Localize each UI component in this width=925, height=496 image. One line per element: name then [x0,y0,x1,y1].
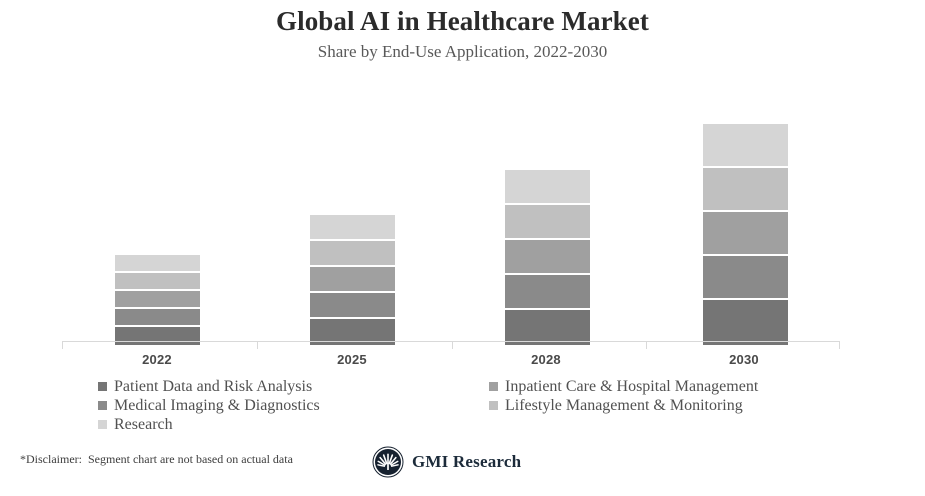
chart-legend: Patient Data and Risk Analysis Medical I… [0,377,925,437]
bar-segment-inpatient-care[interactable] [505,240,590,275]
legend-swatch-icon [98,401,107,410]
bar-stack [115,255,200,345]
legend-item-label: Medical Imaging & Diagnostics [114,396,320,415]
bar-segment-medical-imaging[interactable] [115,309,200,327]
bar-segment-research[interactable] [505,170,590,205]
x-axis-label-2025: 2025 [292,352,412,367]
bar-segment-patient-data[interactable] [505,310,590,345]
bar-segment-lifestyle-management[interactable] [115,273,200,291]
x-axis-label-2028: 2028 [486,352,606,367]
bar-segment-lifestyle-management[interactable] [310,241,395,267]
plot-area [0,80,925,345]
title-block: Global AI in Healthcare Market Share by … [0,4,925,64]
bar-stack [310,215,395,345]
legend-item-lifestyle-management[interactable]: Lifestyle Management & Monitoring [489,396,758,415]
bar-segment-research[interactable] [115,255,200,273]
chart-page: Global AI in Healthcare Market Share by … [0,0,925,496]
x-axis-tick [452,342,453,349]
bar-segment-patient-data[interactable] [703,300,788,345]
bar-segment-lifestyle-management[interactable] [505,205,590,240]
x-axis-tick [257,342,258,349]
page-title: Global AI in Healthcare Market [0,4,925,38]
legend-item-label: Research [114,415,173,434]
bar-stack [505,170,590,345]
legend-item-medical-imaging[interactable]: Medical Imaging & Diagnostics [98,396,320,415]
gmi-research-logo-icon [372,446,404,478]
legend-item-inpatient-care[interactable]: Inpatient Care & Hospital Management [489,377,758,396]
brand-name-label: GMI Research [412,452,521,472]
legend-swatch-icon [489,401,498,410]
legend-item-label: Patient Data and Risk Analysis [114,377,312,396]
bar-segment-medical-imaging[interactable] [310,293,395,319]
bar-stack [703,124,788,345]
bar-segment-research[interactable] [310,215,395,241]
x-axis-tick [62,342,63,349]
legend-swatch-icon [489,382,498,391]
disclaimer-text: *Disclaimer: Segment chart are not based… [20,452,293,467]
bar-segment-patient-data[interactable] [115,327,200,345]
legend-column-left: Patient Data and Risk Analysis Medical I… [98,377,320,434]
legend-swatch-icon [98,420,107,429]
legend-item-label: Lifestyle Management & Monitoring [505,396,743,415]
bar-segment-inpatient-care[interactable] [115,291,200,309]
x-axis-label-2030: 2030 [684,352,804,367]
bar-segment-medical-imaging[interactable] [505,275,590,310]
bar-segment-lifestyle-management[interactable] [703,168,788,212]
legend-swatch-icon [98,382,107,391]
bar-segment-inpatient-care[interactable] [310,267,395,293]
legend-column-right: Inpatient Care & Hospital Management Lif… [489,377,758,415]
chart-subtitle: Share by End-Use Application, 2022-2030 [0,40,925,64]
legend-item-research[interactable]: Research [98,415,320,434]
legend-item-label: Inpatient Care & Hospital Management [505,377,758,396]
x-axis-tick [646,342,647,349]
bar-segment-research[interactable] [703,124,788,168]
brand-logo: GMI Research [372,446,521,478]
legend-item-patient-data[interactable]: Patient Data and Risk Analysis [98,377,320,396]
x-axis-label-2022: 2022 [97,352,217,367]
bar-segment-inpatient-care[interactable] [703,212,788,256]
x-axis-tick [839,342,840,349]
bar-segment-medical-imaging[interactable] [703,256,788,300]
x-axis-line [62,341,840,342]
